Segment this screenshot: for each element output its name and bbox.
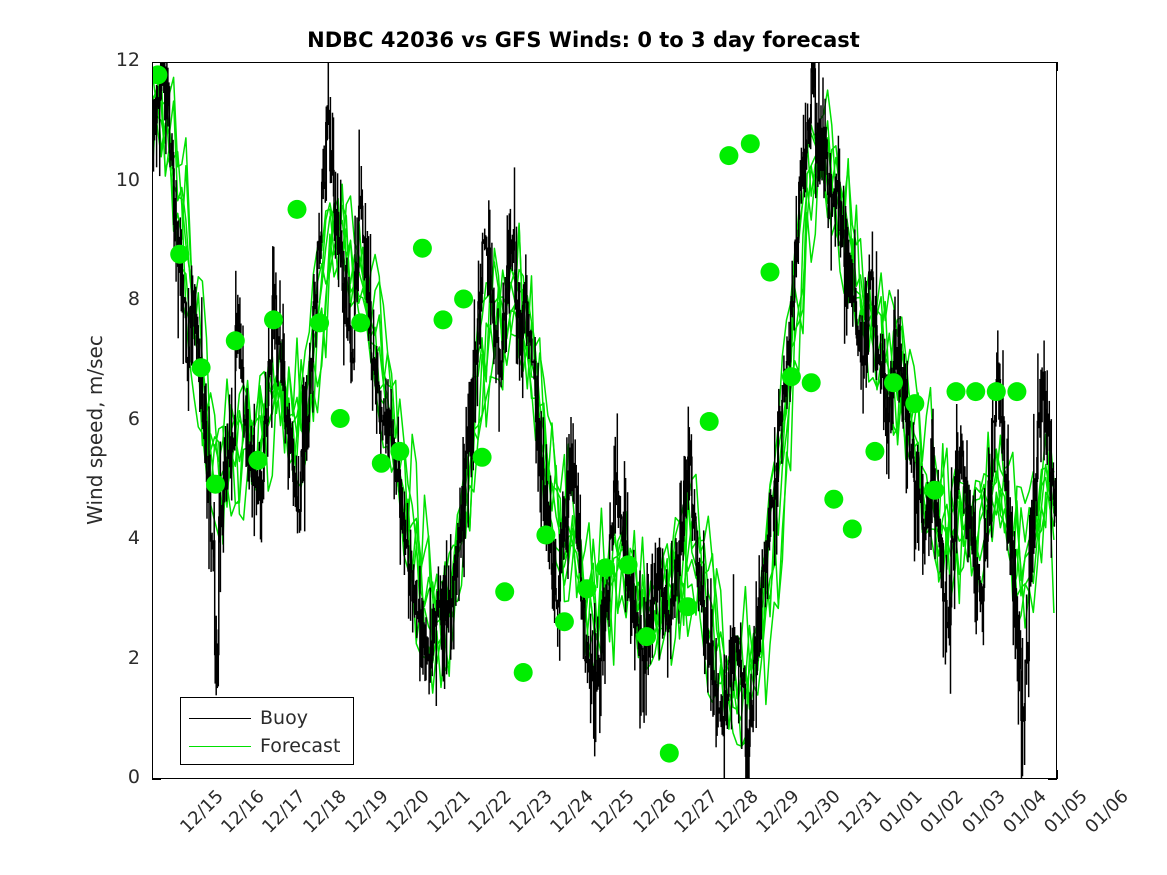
forecast-marker-point <box>719 146 738 165</box>
forecast-marker-point <box>987 382 1006 401</box>
x-tick-label: 12/19 <box>341 786 393 838</box>
y-tick-mark <box>152 779 161 780</box>
forecast-marker-point <box>596 558 615 577</box>
forecast-marker-point <box>925 481 944 500</box>
legend-label-forecast: Forecast <box>260 737 340 756</box>
forecast-marker-point <box>741 134 760 153</box>
forecast-marker-point <box>434 310 453 329</box>
x-tick-mark <box>1057 770 1058 779</box>
forecast-marker-point <box>413 239 432 258</box>
x-tick-label: 12/20 <box>382 786 434 838</box>
x-tick-mark-top <box>1057 62 1058 71</box>
forecast-marker-point <box>264 310 283 329</box>
forecast-marker-point <box>700 412 719 431</box>
x-tick-label: 12/30 <box>793 786 845 838</box>
forecast-marker-point <box>802 373 821 392</box>
x-tick-label: 01/06 <box>1081 786 1133 838</box>
x-tick-label: 01/04 <box>999 786 1051 838</box>
chart-title: NDBC 42036 vs GFS Winds: 0 to 3 day fore… <box>0 28 1167 52</box>
x-tick-label: 12/27 <box>670 786 722 838</box>
legend: Buoy Forecast <box>180 697 354 765</box>
legend-item-forecast: Forecast <box>189 732 345 760</box>
forecast-marker-point <box>947 382 966 401</box>
y-tick-label: 12 <box>80 49 140 71</box>
forecast-marker-point <box>226 331 245 350</box>
forecast-marker-point <box>372 454 391 473</box>
y-tick-label: 0 <box>80 766 140 788</box>
forecast-marker-point <box>310 313 329 332</box>
y-tick-label: 8 <box>80 288 140 310</box>
legend-swatch-forecast-icon <box>189 746 251 747</box>
x-tick-label: 12/23 <box>505 786 557 838</box>
forecast-marker-point <box>637 627 656 646</box>
x-tick-label: 12/21 <box>423 786 475 838</box>
y-tick-label: 6 <box>80 408 140 430</box>
x-tick-label: 01/02 <box>917 786 969 838</box>
buoy-stairs-line <box>153 63 1057 779</box>
forecast-marker-point <box>170 245 189 264</box>
forecast-marker-point <box>660 744 679 763</box>
y-tick-label: 10 <box>80 169 140 191</box>
legend-swatch-buoy-icon <box>189 718 251 719</box>
x-tick-label: 12/15 <box>176 786 228 838</box>
x-tick-label: 12/25 <box>588 786 640 838</box>
y-tick-mark-right <box>1048 779 1057 780</box>
forecast-marker-point <box>761 263 780 282</box>
forecast-marker-point <box>843 520 862 539</box>
x-tick-label: 12/31 <box>834 786 886 838</box>
forecast-marker-point <box>192 358 211 377</box>
x-tick-label: 12/24 <box>546 786 598 838</box>
x-tick-label: 12/22 <box>464 786 516 838</box>
x-tick-label: 01/01 <box>876 786 928 838</box>
forecast-marker-point <box>578 579 597 598</box>
y-tick-label: 4 <box>80 527 140 549</box>
forecast-marker-point <box>865 442 884 461</box>
x-tick-label: 12/17 <box>258 786 310 838</box>
y-tick-label: 2 <box>80 647 140 669</box>
forecast-marker-point <box>884 373 903 392</box>
x-tick-label: 12/26 <box>629 786 681 838</box>
forecast-marker-point <box>514 663 533 682</box>
forecast-marker-point <box>1007 382 1026 401</box>
x-tick-label: 01/05 <box>1040 786 1092 838</box>
forecast-marker-point <box>331 409 350 428</box>
forecast-marker-point <box>351 313 370 332</box>
x-tick-label: 12/29 <box>752 786 804 838</box>
plot-canvas <box>153 63 1057 779</box>
chart-figure: NDBC 42036 vs GFS Winds: 0 to 3 day fore… <box>0 0 1167 875</box>
forecast-marker-point <box>206 475 225 494</box>
forecast-marker-point <box>966 382 985 401</box>
forecast-marker-point <box>288 200 307 219</box>
forecast-marker-point <box>678 597 697 616</box>
forecast-marker-point <box>905 394 924 413</box>
x-tick-label: 12/16 <box>217 786 269 838</box>
forecast-marker-point <box>454 290 473 309</box>
legend-label-buoy: Buoy <box>260 709 308 728</box>
forecast-marker-point <box>248 451 267 470</box>
forecast-marker-point <box>619 555 638 574</box>
legend-item-buoy: Buoy <box>189 704 345 732</box>
x-tick-label: 12/18 <box>300 786 352 838</box>
forecast-marker-point <box>824 490 843 509</box>
plot-area <box>152 62 1057 779</box>
x-tick-label: 01/03 <box>958 786 1010 838</box>
forecast-marker-point <box>473 448 492 467</box>
forecast-marker-point <box>390 442 409 461</box>
forecast-marker-point <box>555 612 574 631</box>
forecast-marker-point <box>495 582 514 601</box>
forecast-marker-point <box>782 367 801 386</box>
forecast-marker-point <box>536 526 555 545</box>
x-tick-label: 12/28 <box>711 786 763 838</box>
